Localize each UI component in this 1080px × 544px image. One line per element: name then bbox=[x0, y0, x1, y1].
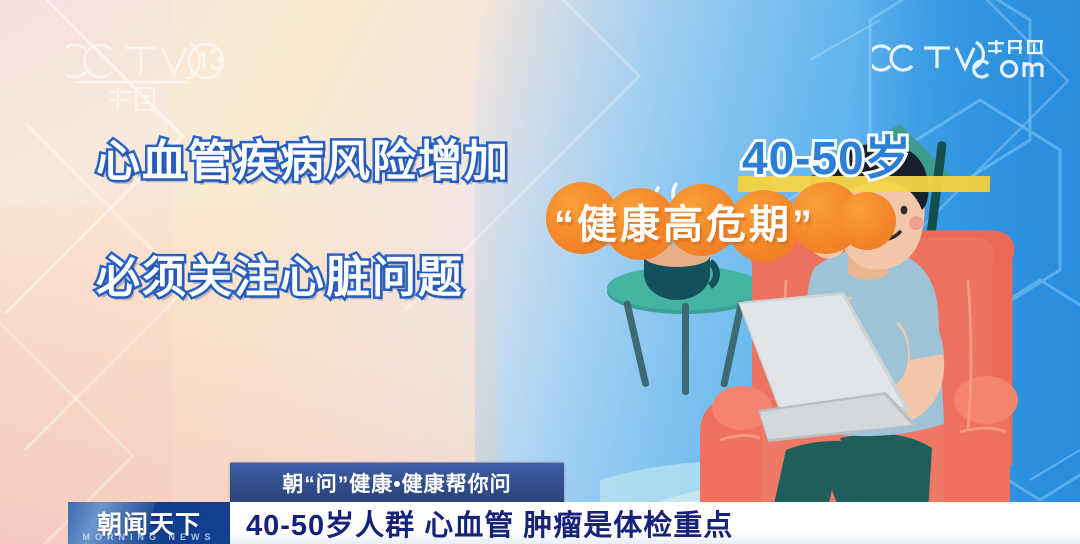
segment-title-banner: 朝“问”健康•健康帮你问 bbox=[230, 462, 564, 503]
risk-period-callout: “健康高危期” bbox=[546, 180, 896, 266]
segment-title-text: 朝“问”健康•健康帮你问 bbox=[282, 468, 511, 498]
headline-bar: 40-50岁人群 心血管 肿瘤是体检重点 bbox=[230, 502, 1080, 544]
left-copy-line-1: 心血管疾病风险增加 bbox=[96, 140, 566, 184]
program-logo-en: MORNING NEWS bbox=[68, 532, 230, 542]
program-logo: 朝闻天下 MORNING NEWS bbox=[68, 502, 230, 544]
risk-period-text: “健康高危期” bbox=[554, 192, 815, 250]
left-copy-block: 心血管疾病风险增加 必须关注心脏问题 bbox=[96, 140, 566, 300]
cctv-com-logo bbox=[872, 36, 1052, 82]
left-copy-line-2: 必须关注心脏问题 bbox=[96, 256, 566, 300]
age-range-text: 40-50岁 bbox=[742, 122, 912, 188]
risk-dot bbox=[838, 192, 896, 250]
headline-text: 40-50岁人群 心血管 肿瘤是体检重点 bbox=[246, 502, 733, 544]
broadcast-frame: 心血管疾病风险增加 必须关注心脏问题 40-50岁 “健康高危期” 朝“问”健康… bbox=[0, 0, 1080, 544]
